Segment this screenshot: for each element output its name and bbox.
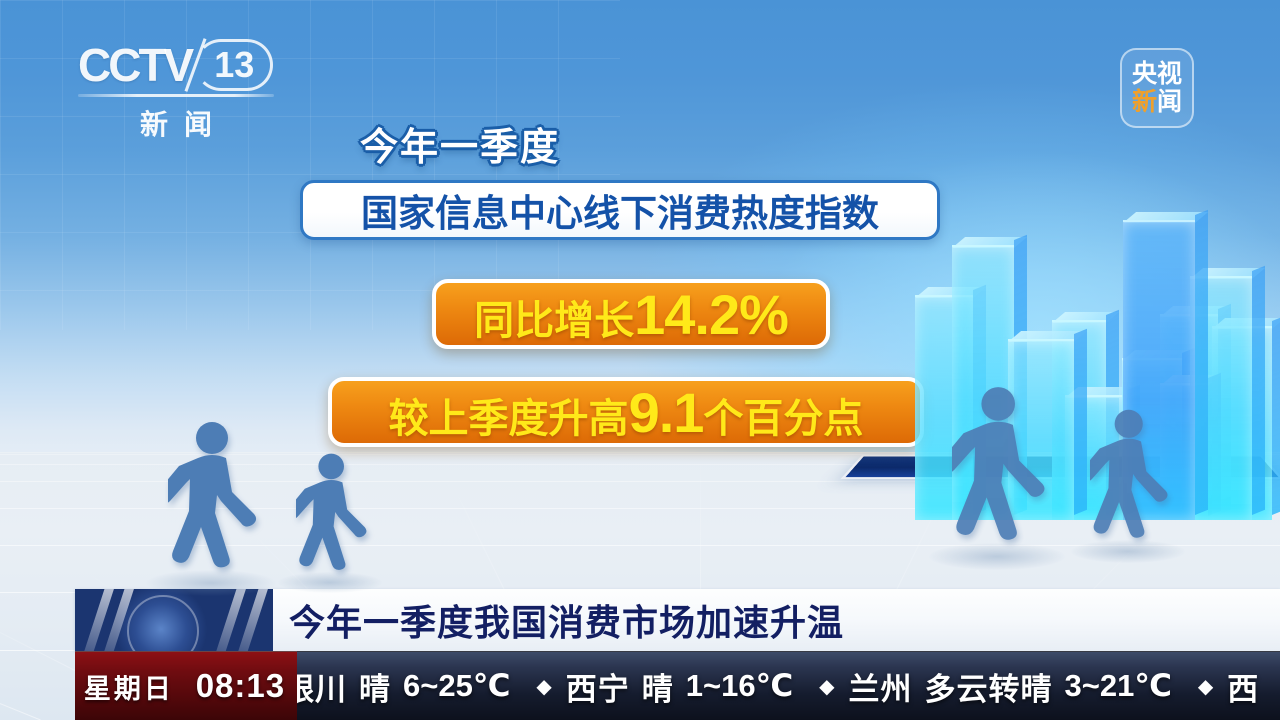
chart-bar-side	[1272, 316, 1280, 515]
channel-logo-underline	[78, 94, 274, 97]
pedestrian-figure	[296, 452, 373, 582]
weather-condition: 晴	[359, 664, 391, 709]
channel-logo-row: CCTV 13	[78, 38, 278, 92]
cctv-news-app-watermark: 央 视 新 闻	[1120, 48, 1194, 128]
growth-stat-label: 同比增长	[474, 288, 634, 346]
weather-condition: 多云转晴	[925, 664, 1053, 709]
headline-globe-logo	[75, 589, 273, 651]
weather-ticker-strip: 银川晴6~25℃◆西宁晴1~16℃◆兰州多云转晴3~21℃◆西	[297, 664, 1259, 709]
channel-number-label: 13	[195, 39, 273, 91]
headline-text: 今年一季度我国消费市场加速升温	[273, 594, 844, 646]
watermark-char-yang: 央	[1132, 61, 1157, 87]
pedestrian-figure	[952, 385, 1053, 555]
growth-stat-value: 14.2%	[634, 282, 788, 347]
watermark-char-wen: 闻	[1157, 89, 1182, 115]
pedestrian-figure	[1090, 408, 1174, 551]
chart-bar-side	[1195, 210, 1208, 515]
weather-city: 西	[1227, 664, 1259, 709]
weather-separator-icon: ◆	[536, 674, 551, 699]
weather-condition: 晴	[642, 664, 674, 709]
index-title-label: 国家信息中心线下消费热度指数	[361, 183, 879, 237]
watermark-char-shi: 视	[1157, 61, 1182, 87]
headline-bar: 今年一季度我国消费市场加速升温	[75, 589, 1280, 651]
weather-temperature: 3~21℃	[1065, 668, 1172, 704]
bottom-ticker-row: 星期日 08:13 银川晴6~25℃◆西宁晴1~16℃◆兰州多云转晴3~21℃◆…	[75, 651, 1280, 720]
weather-city: 银川	[297, 664, 347, 709]
clock-weekday: 星期日	[75, 667, 183, 706]
watermark-line-2: 新 闻	[1132, 89, 1182, 115]
weather-item: 兰州多云转晴3~21℃	[849, 664, 1172, 709]
weather-city: 兰州	[849, 664, 913, 709]
channel-logo-wordmark: CCTV	[78, 38, 191, 92]
weather-separator-icon: ◆	[819, 674, 834, 699]
weather-item: 西宁晴1~16℃	[566, 664, 793, 709]
channel-number-badge: 13	[195, 39, 273, 91]
chart-bar-side	[1252, 266, 1265, 515]
growth-stat-text: 同比增长 14.2%	[474, 282, 788, 347]
delta-stat-text: 较上季度升高 9.1 个百分点	[389, 380, 864, 445]
delta-stat-value: 9.1	[629, 380, 704, 445]
chart-bar-side	[1074, 328, 1087, 515]
weather-city: 西宁	[566, 664, 630, 709]
kicker-text: 今年一季度	[0, 116, 920, 171]
growth-stat-pill: 同比增长 14.2%	[432, 279, 830, 349]
delta-stat-unit: 个百分点	[703, 386, 863, 444]
index-title-pill: 国家信息中心线下消费热度指数	[300, 180, 940, 240]
delta-stat-pill: 较上季度升高 9.1 个百分点	[328, 377, 924, 447]
delta-stat-label: 较上季度升高	[389, 386, 629, 444]
broadcast-screen: CCTV 13 新闻 央 视 新 闻 今年一季度 国家信息中心线下消费热度指数	[0, 0, 1280, 720]
watermark-line-1: 央 视	[1132, 61, 1182, 87]
clock-time: 08:13	[184, 667, 297, 705]
watermark-char-xin: 新	[1132, 89, 1157, 115]
weather-item: 银川晴6~25℃	[297, 664, 510, 709]
clock-block: 星期日 08:13	[75, 651, 297, 720]
weather-temperature: 1~16℃	[686, 668, 793, 704]
pedestrian-figure	[168, 420, 264, 582]
weather-separator-icon: ◆	[1198, 674, 1213, 699]
weather-temperature: 6~25℃	[403, 668, 510, 704]
weather-item: 西	[1227, 664, 1259, 709]
globe-icon	[127, 595, 199, 651]
weather-ticker: 银川晴6~25℃◆西宁晴1~16℃◆兰州多云转晴3~21℃◆西	[297, 651, 1280, 720]
